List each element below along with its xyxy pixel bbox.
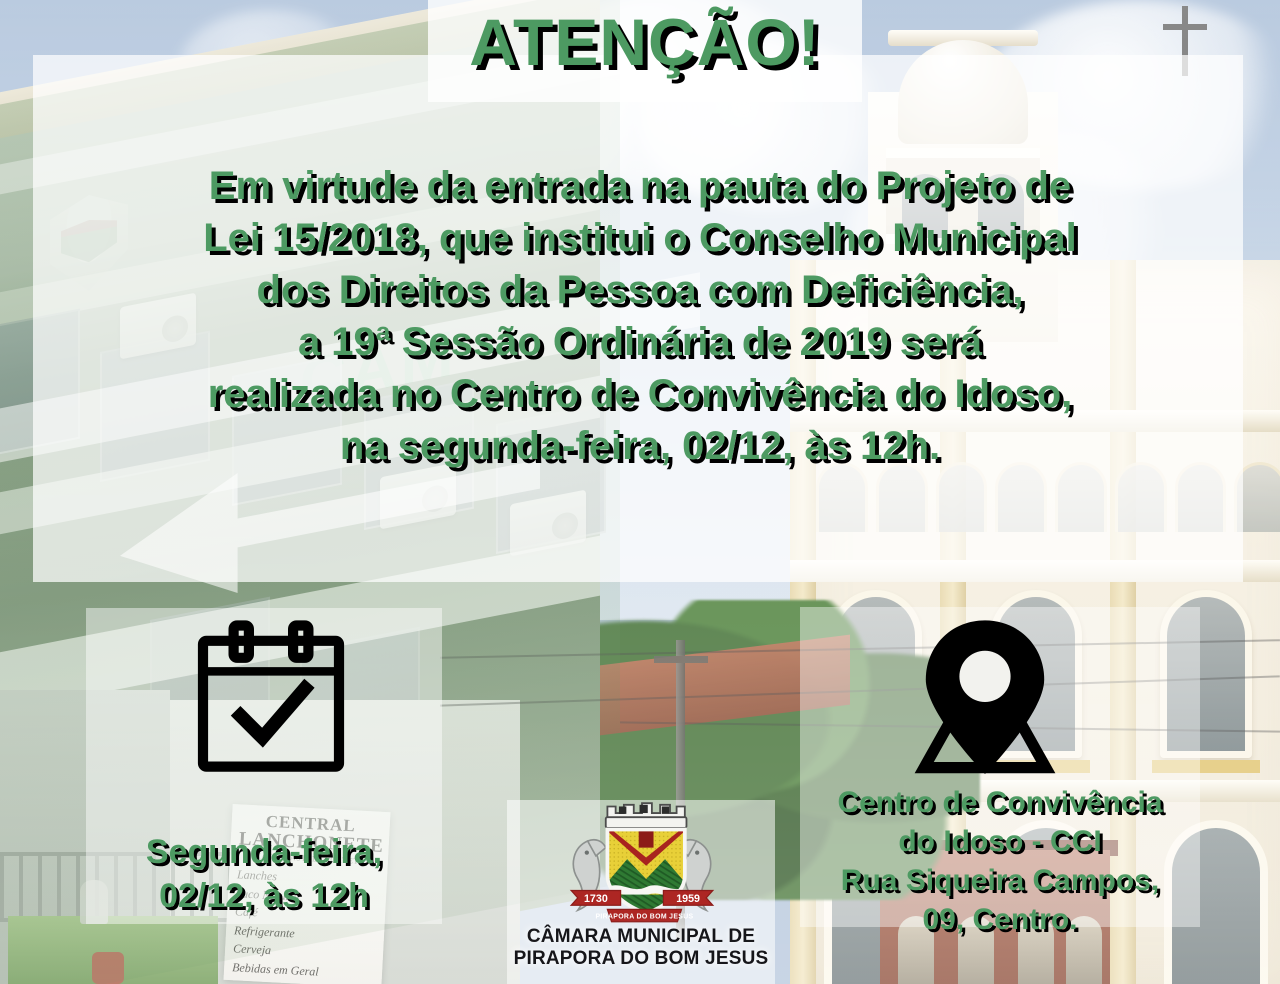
body-line: Lei 15/2018, que institui o Conselho Mun… xyxy=(40,212,1240,264)
shield xyxy=(601,826,693,922)
date-line: Segunda-feira, xyxy=(86,830,442,874)
calendar-check-icon xyxy=(186,617,356,787)
place-line: Centro de Convivência xyxy=(795,783,1205,822)
crown xyxy=(606,803,687,828)
crest-year-right: 1959 xyxy=(676,893,700,905)
body-line: na segunda-feira, 02/12, às 12h. xyxy=(40,420,1240,472)
place-line: do Idoso - CCI xyxy=(795,822,1205,861)
place-line: Rua Siqueira Campos, xyxy=(795,861,1205,900)
coat-of-arms-icon: 1730 1959 PIRAPORA DO BOM JESUS xyxy=(557,790,727,930)
date-line: 02/12, às 12h xyxy=(86,874,442,918)
logo-caption-line1: CÂMARA MUNICIPAL DE xyxy=(500,926,782,948)
crest-year-left: 1730 xyxy=(584,893,608,905)
map-pin-icon xyxy=(905,612,1065,792)
ribbon-motto: PIRAPORA DO BOM JESUS xyxy=(595,909,693,921)
logo-caption-line2: PIRAPORA DO BOM JESUS xyxy=(500,948,782,970)
place-line: 09, Centro. xyxy=(795,900,1205,939)
announcement-body: Em virtude da entrada na pauta do Projet… xyxy=(40,160,1240,472)
body-line: a 19ª Sessão Ordinária de 2019 será xyxy=(40,316,1240,368)
poster-canvas: CÂM CENTRAL LANCHONETE MATE • PASTEL • S… xyxy=(0,0,1280,984)
body-line: Em virtude da entrada na pauta do Projet… xyxy=(40,160,1240,212)
place-text: Centro de Convivência do Idoso - CCI Rua… xyxy=(795,783,1205,939)
logo-caption: CÂMARA MUNICIPAL DE PIRAPORA DO BOM JESU… xyxy=(500,926,782,971)
page-title: ATENÇÃO! xyxy=(428,6,862,79)
crest-motto: PIRAPORA DO BOM JESUS xyxy=(595,913,693,920)
body-line: realizada no Centro de Convivência do Id… xyxy=(40,368,1240,420)
ribbon-right: 1959 xyxy=(663,890,712,905)
body-line: dos Direitos da Pessoa com Deficiência, xyxy=(40,264,1240,316)
ribbon-left: 1730 xyxy=(571,890,620,905)
date-text: Segunda-feira, 02/12, às 12h xyxy=(86,830,442,918)
